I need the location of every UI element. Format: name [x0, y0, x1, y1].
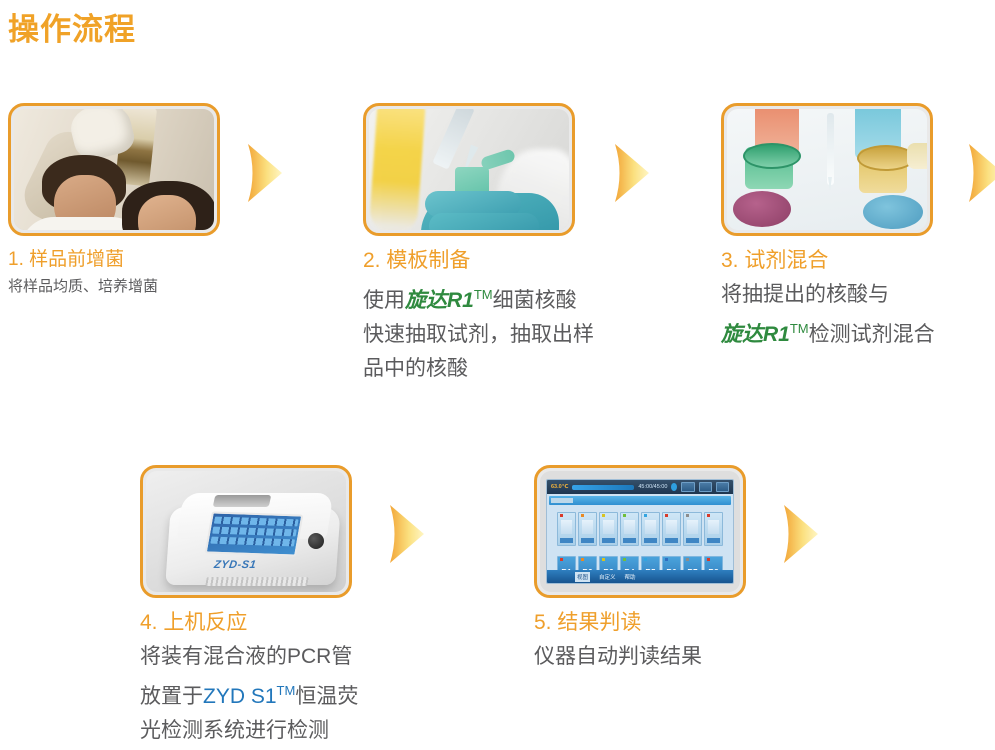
bottom-tab-help[interactable]: 帮助: [625, 573, 636, 581]
sample-cell[interactable]: [599, 512, 618, 546]
step-1-line-1: 将样品均质、培养增菌: [8, 275, 220, 299]
step-2-line-2: 快速抽取试剂，抽取出样: [363, 318, 594, 352]
bottom-tab-custom[interactable]: 自定义: [599, 573, 616, 581]
step-4-body: 将装有混合液的PCR管 放置于ZYD S1TM恒温荧 光检测系统进行检测: [140, 640, 358, 748]
temperature-readout: 63.0℃: [551, 484, 568, 490]
step-2-body: 使用旋达R1TM细菌核酸 快速抽取试剂，抽取出样 品中的核酸: [363, 278, 594, 386]
lab-workers-photo: [14, 109, 214, 230]
step-2: 2. 模板制备 使用旋达R1TM细菌核酸 快速抽取试剂，抽取出样 品中的核酸: [363, 103, 594, 386]
arrow-step2-to-step3: [613, 142, 653, 204]
step-4-line-3: 光检测系统进行检测: [140, 714, 358, 748]
brand-xuanda-r1: 旋达R1: [721, 323, 790, 346]
step-5-line-1: 仪器自动判读结果: [534, 640, 746, 674]
step-1-body: 将样品均质、培养增菌: [8, 275, 220, 299]
step-5: 63.0℃ 45:00/45:00: [534, 465, 746, 674]
step-4-line-1: 将装有混合液的PCR管: [140, 640, 358, 674]
zyd-s1-instrument-photo: ZYD-S1: [146, 471, 346, 592]
trademark-symbol: TM: [277, 683, 296, 698]
software-screen-bezel: 63.0℃ 45:00/45:00: [546, 479, 734, 584]
sample-cell[interactable]: [641, 512, 660, 546]
toolbar-button-2[interactable]: [699, 482, 712, 492]
arrow-step4-to-step5: [388, 503, 428, 565]
sample-cell[interactable]: [620, 512, 639, 546]
sample-cell[interactable]: [557, 512, 576, 546]
colored-tubes-photo: [727, 109, 927, 230]
device-model-label: ZYD-S1: [213, 559, 257, 571]
step-1-thumbnail: [8, 103, 220, 236]
toolbar-button-1[interactable]: [681, 482, 694, 492]
software-screen-photo: 63.0℃ 45:00/45:00: [540, 471, 740, 592]
text-plain: 放置于: [140, 685, 203, 708]
step-5-body: 仪器自动判读结果: [534, 640, 746, 674]
play-icon[interactable]: [671, 483, 677, 491]
step-4-thumbnail: ZYD-S1: [140, 465, 352, 598]
text-plain: 检测试剂混合: [809, 323, 935, 346]
step-4: ZYD-S1 4. 上机反应 将装有混合液的PCR管 放置于ZYD S1TM恒温…: [140, 465, 358, 748]
step-1-heading: 1. 样品前增菌: [8, 248, 220, 272]
step-4-line-2: 放置于ZYD S1TM恒温荧: [140, 674, 358, 714]
step-2-thumbnail: [363, 103, 575, 236]
software-subbar: [549, 496, 731, 505]
step-1: 1. 样品前增菌 将样品均质、培养增菌: [8, 103, 220, 299]
trademark-symbol: TM: [790, 321, 809, 336]
software-bottom-nav: 视图 自定义 帮助: [547, 570, 733, 583]
step-2-line-3: 品中的核酸: [363, 352, 594, 386]
sample-cell[interactable]: [578, 512, 597, 546]
step-3-body: 将抽提出的核酸与 旋达R1TM检测试剂混合: [721, 278, 935, 352]
pipette-tube-photo: [369, 109, 569, 230]
trademark-symbol: TM: [474, 287, 493, 302]
brand-xuanda-r1: 旋达R1: [405, 289, 474, 312]
step-5-thumbnail: 63.0℃ 45:00/45:00: [534, 465, 746, 598]
step-3-line-2: 旋达R1TM检测试剂混合: [721, 312, 935, 352]
step-3-thumbnail: [721, 103, 933, 236]
step-2-line-1: 使用旋达R1TM细菌核酸: [363, 278, 594, 318]
sample-grid-row-1: [557, 512, 723, 546]
software-topbar: 63.0℃ 45:00/45:00: [547, 480, 733, 494]
sample-cell[interactable]: [683, 512, 702, 546]
step-3-heading: 3. 试剂混合: [721, 248, 935, 274]
timer-readout: 45:00/45:00: [638, 484, 667, 490]
arrow-step5-to-next: [782, 503, 822, 565]
step-2-heading: 2. 模板制备: [363, 248, 594, 274]
sample-cell[interactable]: [704, 512, 723, 546]
sample-cell[interactable]: [662, 512, 681, 546]
step-4-heading: 4. 上机反应: [140, 610, 358, 636]
brand-zyd-s1: ZYD S1: [203, 685, 277, 708]
step-3-line-1: 将抽提出的核酸与: [721, 278, 935, 312]
text-plain: 细菌核酸: [493, 289, 577, 312]
page-title: 操作流程: [8, 10, 136, 50]
bottom-tab-view[interactable]: 视图: [575, 572, 590, 582]
step-3: 3. 试剂混合 将抽提出的核酸与 旋达R1TM检测试剂混合: [721, 103, 935, 352]
arrow-step1-to-step2: [246, 142, 286, 204]
step-5-heading: 5. 结果判读: [534, 610, 746, 636]
toolbar-button-3[interactable]: [716, 482, 729, 492]
arrow-step3-to-next: [967, 142, 995, 204]
progress-bar: [572, 485, 634, 490]
text-plain: 恒温荧: [295, 685, 358, 708]
text-plain: 使用: [363, 289, 405, 312]
